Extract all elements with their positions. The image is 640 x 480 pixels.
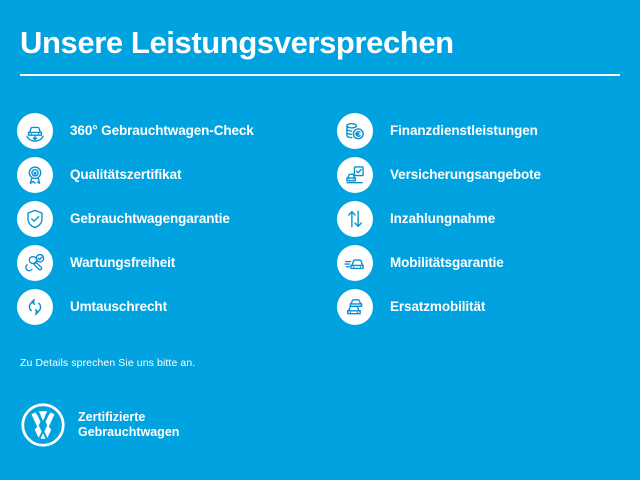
coins-euro-icon xyxy=(337,113,373,149)
up-down-arrows-icon xyxy=(337,201,373,237)
benefit-label: Gebrauchtwagengarantie xyxy=(70,211,230,227)
benefit-item: Umtauschrecht xyxy=(17,289,317,325)
wrench-check-icon xyxy=(17,245,53,281)
benefit-label: Qualitätszertifikat xyxy=(70,167,181,183)
benefit-item: Inzahlungnahme xyxy=(337,201,637,237)
car-document-check-icon xyxy=(337,157,373,193)
shield-check-icon xyxy=(17,201,53,237)
award-rosette-icon xyxy=(17,157,53,193)
benefit-item: Wartungsfreiheit xyxy=(17,245,317,281)
vw-logo-icon xyxy=(20,402,66,448)
benefit-label: Ersatzmobilität xyxy=(390,299,485,315)
benefit-item: 360° Gebrauchtwagen-Check xyxy=(17,113,317,149)
brand-lockup: Zertifizierte Gebrauchtwagen xyxy=(20,402,179,448)
benefit-item: Gebrauchtwagengarantie xyxy=(17,201,317,237)
benefit-label: Finanzdienstleistungen xyxy=(390,123,538,139)
benefits-left-column: 360° Gebrauchtwagen-Check Qualitätszerti… xyxy=(17,113,317,333)
benefit-item: Ersatzmobilität xyxy=(337,289,637,325)
benefit-item: Mobilitätsgarantie xyxy=(337,245,637,281)
car-check-icon xyxy=(17,113,53,149)
car-speed-icon xyxy=(337,245,373,281)
benefit-label: Versicherungsangebote xyxy=(390,167,541,183)
slide-root: Unsere Leistungsversprechen xyxy=(0,0,640,480)
benefit-label: Umtauschrecht xyxy=(70,299,167,315)
benefits-right-column: Finanzdienstleistungen Versicheru xyxy=(337,113,637,333)
two-cars-icon xyxy=(337,289,373,325)
brand-line-2: Gebrauchtwagen xyxy=(78,425,179,440)
benefit-item: Versicherungsangebote xyxy=(337,157,637,193)
benefit-label: Wartungsfreiheit xyxy=(70,255,175,271)
benefit-label: Mobilitätsgarantie xyxy=(390,255,504,271)
details-note: Zu Details sprechen Sie uns bitte an. xyxy=(20,357,195,369)
benefit-label: Inzahlungnahme xyxy=(390,211,495,227)
title-divider xyxy=(20,74,620,76)
brand-line-1: Zertifizierte xyxy=(78,410,179,425)
page-title: Unsere Leistungsversprechen xyxy=(20,24,454,62)
benefit-item: Finanzdienstleistungen xyxy=(337,113,637,149)
benefit-label: 360° Gebrauchtwagen-Check xyxy=(70,123,254,139)
exchange-arrows-icon xyxy=(17,289,53,325)
brand-lockup-text: Zertifizierte Gebrauchtwagen xyxy=(78,410,179,440)
benefit-item: Qualitätszertifikat xyxy=(17,157,317,193)
